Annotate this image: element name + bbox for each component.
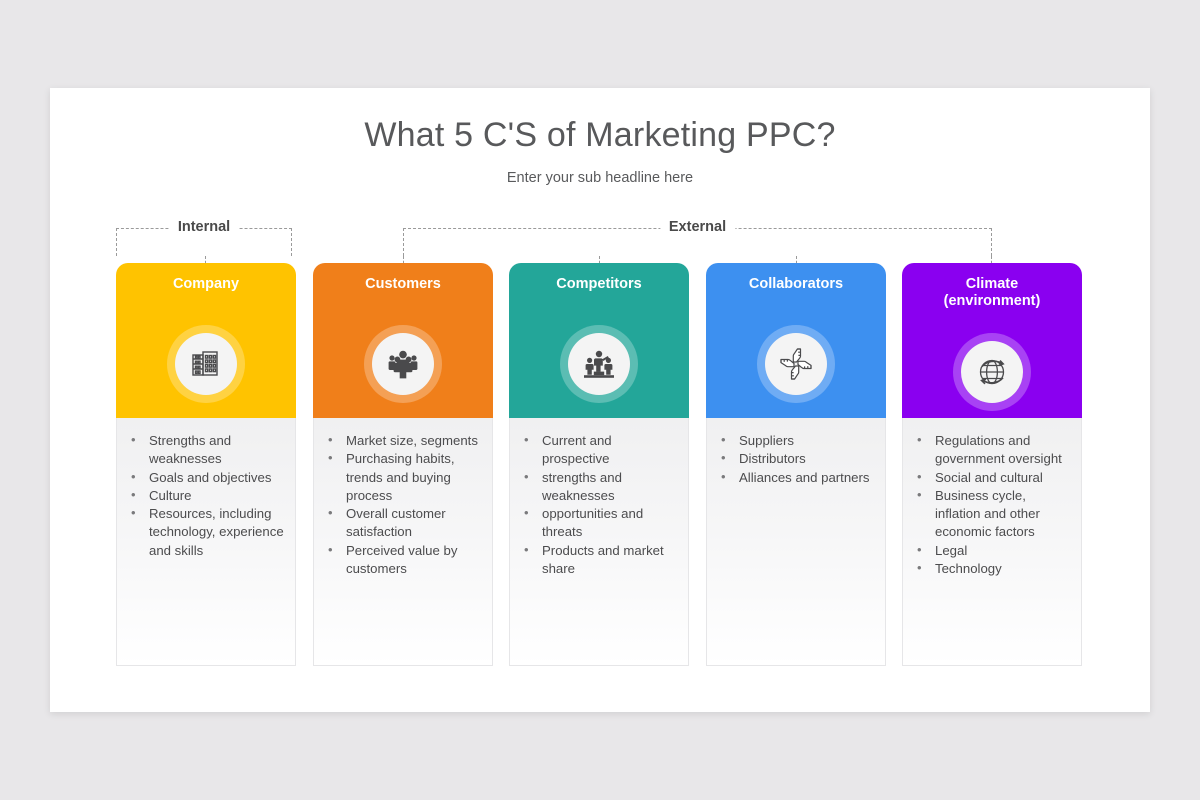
list-item: Market size, segments — [324, 432, 484, 450]
people-group-icon — [384, 347, 422, 381]
list-item: strengths and weaknesses — [520, 469, 680, 506]
card-climate-icon-halo — [953, 333, 1031, 411]
card-customers-bullets: Market size, segments Purchasing habits,… — [324, 432, 484, 578]
card-collaborators-header: Collaborators — [706, 263, 886, 418]
card-collaborators-bullets: Suppliers Distributors Alliances and par… — [717, 432, 877, 487]
office-building-icon — [188, 346, 224, 382]
card-company-icon-halo — [167, 325, 245, 403]
list-item: Overall customer satisfaction — [324, 505, 484, 542]
card-company-bullets: Strengths and weaknesses Goals and objec… — [127, 432, 287, 560]
list-item: Technology — [913, 560, 1073, 578]
card-collaborators-icon-disc — [765, 333, 827, 395]
card-customers-title: Customers — [313, 276, 493, 293]
card-company-header: Company — [116, 263, 296, 418]
card-collaborators-title: Collaborators — [706, 276, 886, 293]
card-competitors-icon-disc — [568, 333, 630, 395]
card-climate-icon-disc — [961, 341, 1023, 403]
cards-row: Company — [50, 263, 1150, 666]
card-competitors-bullets: Current and prospective strengths and we… — [520, 432, 680, 578]
list-item: Strengths and weaknesses — [127, 432, 287, 469]
card-competitors-body: Current and prospective strengths and we… — [509, 418, 689, 666]
list-item: Culture — [127, 487, 287, 505]
list-item: Products and market share — [520, 542, 680, 579]
list-item: Purchasing habits, trends and buying pro… — [324, 450, 484, 505]
card-climate-title-line1: Climate — [902, 276, 1082, 293]
bracket-external-label: External — [660, 219, 735, 235]
card-competitors-header: Competitors — [509, 263, 689, 418]
list-item: Resources, including technology, experie… — [127, 505, 287, 560]
card-company-title: Company — [116, 276, 296, 293]
card-climate[interactable]: Climate (environment) — [902, 263, 1082, 666]
page-subtitle: Enter your sub headline here — [50, 170, 1150, 186]
list-item: Perceived value by customers — [324, 542, 484, 579]
card-collaborators[interactable]: Collaborators — [706, 263, 886, 666]
card-customers-icon-disc — [372, 333, 434, 395]
card-climate-header: Climate (environment) — [902, 263, 1082, 418]
list-item: Business cycle, inflation and other econ… — [913, 487, 1073, 542]
card-company[interactable]: Company — [116, 263, 296, 666]
card-competitors-icon-halo — [560, 325, 638, 403]
card-collaborators-icon-halo — [757, 325, 835, 403]
group-brackets: Internal External — [50, 216, 1150, 256]
podium-winners-icon — [580, 347, 618, 381]
slide-canvas: What 5 C'S of Marketing PPC? Enter your … — [50, 88, 1150, 712]
card-climate-title: Climate (environment) — [902, 276, 1082, 309]
page-title: What 5 C'S of Marketing PPC? — [50, 116, 1150, 155]
list-item: Legal — [913, 542, 1073, 560]
card-competitors-title: Competitors — [509, 276, 689, 293]
card-customers[interactable]: Customers — [313, 263, 493, 666]
list-item: Current and prospective — [520, 432, 680, 469]
teamwork-hands-icon — [777, 345, 815, 383]
list-item: Social and cultural — [913, 469, 1073, 487]
card-customers-icon-halo — [364, 325, 442, 403]
card-customers-body: Market size, segments Purchasing habits,… — [313, 418, 493, 666]
globe-arrows-icon — [974, 354, 1010, 390]
list-item: Distributors — [717, 450, 877, 468]
bracket-external: External — [403, 228, 992, 256]
card-company-body: Strengths and weaknesses Goals and objec… — [116, 418, 296, 666]
bracket-internal: Internal — [116, 228, 292, 256]
card-climate-bullets: Regulations and government oversight Soc… — [913, 432, 1073, 578]
card-climate-body: Regulations and government oversight Soc… — [902, 418, 1082, 666]
list-item: Suppliers — [717, 432, 877, 450]
list-item: Alliances and partners — [717, 469, 877, 487]
card-collaborators-body: Suppliers Distributors Alliances and par… — [706, 418, 886, 666]
bracket-internal-label: Internal — [169, 219, 239, 235]
list-item: Regulations and government oversight — [913, 432, 1073, 469]
card-customers-header: Customers — [313, 263, 493, 418]
card-competitors[interactable]: Competitors — [509, 263, 689, 666]
card-company-icon-disc — [175, 333, 237, 395]
list-item: Goals and objectives — [127, 469, 287, 487]
card-climate-title-line2: (environment) — [902, 293, 1082, 310]
list-item: opportunities and threats — [520, 505, 680, 542]
